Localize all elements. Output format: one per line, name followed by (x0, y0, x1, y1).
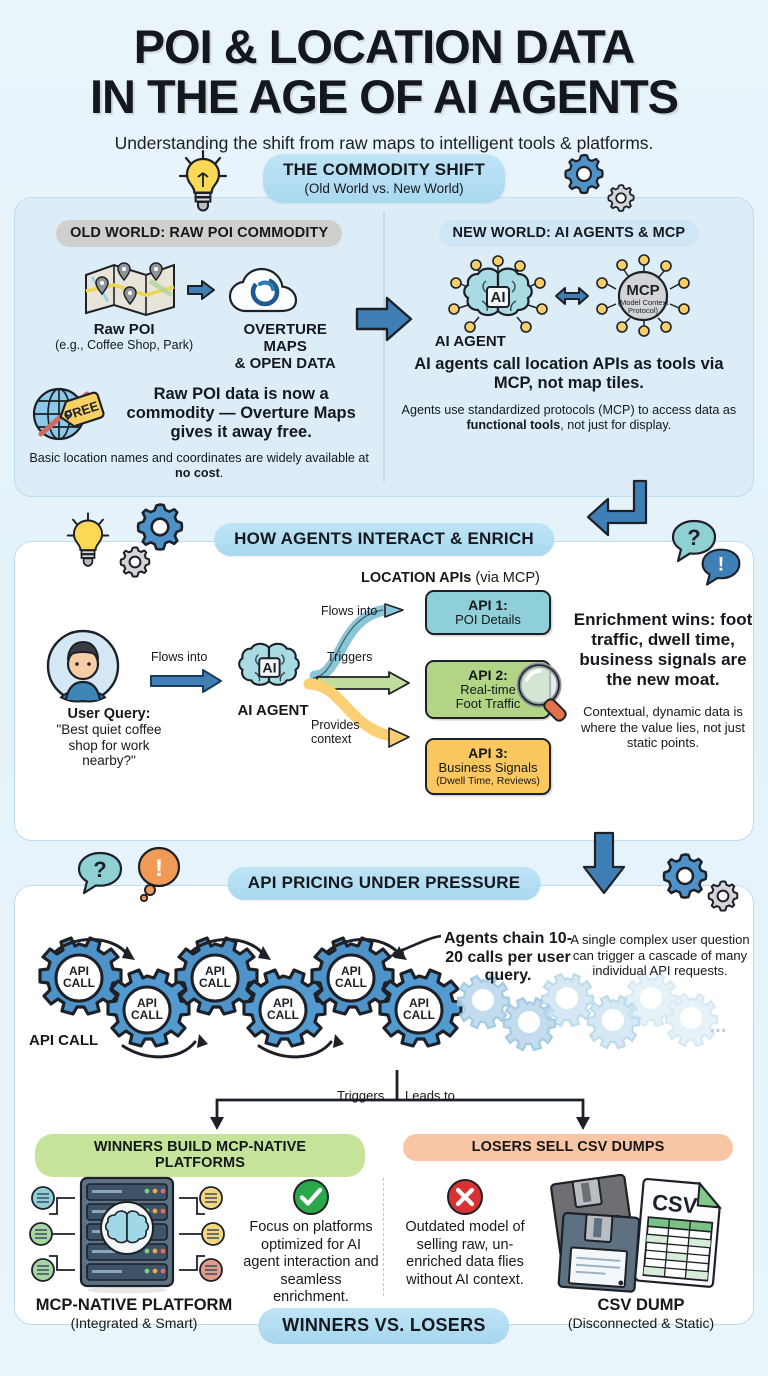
old-world-pill: OLD WORLD: RAW POI COMMODITY (56, 220, 342, 247)
gear-small-icon (118, 545, 152, 579)
section3-badge: API PRICING UNDER PRESSURE (228, 867, 541, 900)
section1-panel: OLD WORLD: RAW POI COMMODITY (14, 197, 754, 497)
connector-arrow-down-left (586, 481, 666, 551)
overture-label-2: & OPEN DATA (221, 355, 349, 372)
exclaim-bubble-icon: ! (136, 847, 182, 901)
section1-badge-title: THE COMMODITY SHIFT (283, 160, 485, 180)
bottom-badge: WINNERS VS. LOSERS (258, 1308, 509, 1344)
flow-label-api1: Flows into (321, 604, 377, 618)
question-bubble-icon: ? (76, 851, 124, 897)
svg-text:CALL: CALL (63, 976, 95, 990)
winners-text: Focus on platforms optimized for AI agen… (243, 1219, 379, 1307)
section3-panel: APICALL APICALL APICALL APICALL APICALL … (14, 885, 754, 1325)
magnifier-icon (513, 660, 577, 724)
branch-connector (75, 1070, 695, 1136)
overture-label-1: OVERTURE MAPS (221, 321, 349, 355)
section2-badge: HOW AGENTS INTERACT & ENRICH (214, 523, 554, 556)
platform-sub: (Integrated & Smart) (29, 1315, 239, 1331)
ai-agent-brain: AI (446, 257, 550, 335)
losers-pill: LOSERS SELL CSV DUMPS (403, 1134, 733, 1161)
lightbulb-icon (66, 511, 110, 567)
server-rack-icon (29, 1176, 225, 1294)
gear-icon (660, 851, 710, 901)
lightbulb-icon (178, 149, 228, 211)
arrow-to-chain-statement (387, 932, 445, 962)
mcp-label: MCP (626, 282, 659, 299)
page-subtitle: Understanding the shift from raw maps to… (0, 133, 768, 154)
user-avatar-icon (45, 628, 121, 704)
ai-agent-label: AI AGENT (435, 333, 506, 350)
user-query-label: User Query: (45, 706, 173, 722)
enrichment-statement: Enrichment wins: foot traffic, dwell tim… (571, 610, 755, 690)
section-agents-interact: ? ! HOW AGENTS INTERACT & ENRICH LOCATIO… (14, 541, 754, 841)
svg-text:CALL: CALL (335, 976, 367, 990)
map-icon (82, 261, 178, 319)
enrichment-note: Contextual, dynamic data is where the va… (571, 704, 755, 751)
svg-text:?: ? (93, 857, 106, 882)
cloud-icon (224, 261, 316, 319)
section2-badge-title: HOW AGENTS INTERACT & ENRICH (234, 529, 534, 549)
connector-arrow-down (582, 833, 626, 895)
branch-label-triggers: Triggers (337, 1088, 384, 1103)
agent-ai-label: AI (262, 659, 276, 675)
svg-text:!: ! (155, 855, 163, 882)
flow-label-user-to-agent: Flows into (151, 650, 207, 664)
section-api-pricing: ? ! API PRICING UNDER PRESSURE (14, 885, 754, 1325)
raw-poi-node (82, 261, 178, 319)
x-circle-icon (446, 1178, 484, 1216)
old-world-statement: Raw POI data is now a commodity — Overtu… (113, 385, 369, 442)
page-title-line2: IN THE AGE OF AI AGENTS (0, 72, 768, 122)
section1-badge-subtitle: (Old World vs. New World) (283, 181, 485, 196)
page-header: POI & LOCATION DATA IN THE AGE OF AI AGE… (0, 0, 768, 154)
flow-label-api2: Triggers (327, 650, 372, 664)
bidirectional-arrow-icon (554, 283, 590, 309)
infographic-page: POI & LOCATION DATA IN THE AGE OF AI AGE… (0, 0, 768, 1376)
api-box-1[interactable]: API 1: POI Details (425, 590, 551, 635)
winners-losers-divider (383, 1178, 384, 1296)
old-world-note: Basic location names and coordinates are… (27, 451, 371, 480)
overture-node (224, 261, 316, 319)
arrow-right-icon (186, 278, 216, 302)
enrichment-callout: Enrichment wins: foot traffic, dwell tim… (571, 610, 755, 751)
section3-badge-title: API PRICING UNDER PRESSURE (248, 873, 521, 893)
svg-text:!: ! (718, 555, 724, 576)
branch-label-leads-to: Leads to (405, 1088, 455, 1103)
svg-text:CALL: CALL (267, 1008, 299, 1022)
svg-text:CALL: CALL (403, 1008, 435, 1022)
api-call-label: API CALL (29, 1032, 98, 1049)
gear-small-icon (606, 183, 636, 213)
api-3-desc: Business Signals (433, 761, 543, 775)
mcp-sublabel-l2: Protocol) (628, 306, 659, 315)
platform-name: MCP-NATIVE PLATFORM (29, 1296, 239, 1315)
free-globe-icon: FREE (29, 382, 107, 444)
exclaim-bubble-icon: ! (700, 547, 742, 589)
raw-poi-sub: (e.g., Coffee Shop, Park) (49, 338, 199, 352)
chain-statement: Agents chain 10-20 calls per user query. (439, 930, 577, 986)
losers-text: Outdated model of selling raw, un-enrich… (395, 1219, 535, 1289)
api-3-name: API 3: (433, 745, 543, 761)
csv-dump-sub: (Disconnected & Static) (539, 1315, 743, 1331)
csv-dump-name: CSV DUMP (539, 1296, 743, 1315)
new-world-column: NEW WORLD: AI AGENTS & MCP (385, 198, 753, 496)
check-circle-icon (292, 1178, 330, 1216)
gear-small-icon (706, 879, 740, 913)
svg-text:?: ? (687, 525, 700, 550)
section1-badge: THE COMMODITY SHIFT (Old World vs. New W… (263, 154, 505, 203)
csv-file-label: CSV (651, 1190, 699, 1219)
mcp-node: MCP (Model Context Protocol) (594, 257, 692, 335)
csv-files-icon: CSV (539, 1176, 729, 1294)
brain-ai-label: AI (490, 289, 505, 306)
new-world-statement: AI agents call location APIs as tools vi… (397, 355, 741, 393)
csv-dump-node: CSV CSV (539, 1176, 743, 1331)
mcp-native-platform-node: MCP-NATIVE PLATFORM (Integrated & Smart) (29, 1176, 239, 1331)
api-3-extra: (Dwell Time, Reviews) (433, 775, 543, 787)
brain-icon: AI (223, 632, 315, 704)
arrow-user-to-agent (149, 668, 223, 694)
old-world-column: OLD WORLD: RAW POI COMMODITY (15, 198, 383, 496)
svg-text:CALL: CALL (199, 976, 231, 990)
api-box-3[interactable]: API 3: Business Signals (Dwell Time, Rev… (425, 738, 551, 795)
flow-label-api3: Provides context (311, 718, 360, 746)
api-1-desc: POI Details (433, 613, 543, 627)
raw-poi-label: Raw POI (49, 321, 199, 338)
user-query-text: "Best quiet coffee shop for work nearby?… (45, 722, 173, 769)
winners-pill: WINNERS BUILD MCP-NATIVE PLATFORMS (35, 1134, 365, 1177)
cascade-note: A single complex user question can trigg… (567, 932, 753, 979)
svg-text:CALL: CALL (131, 1008, 163, 1022)
big-arrow-right-icon (355, 296, 413, 342)
section2-panel: LOCATION APIs (via MCP) User Query: "Bes… (14, 541, 754, 841)
gear-icon (562, 152, 606, 196)
new-world-note: Agents use standardized protocols (MCP) … (397, 403, 741, 432)
page-title-line1: POI & LOCATION DATA (0, 22, 768, 72)
section-commodity-shift: THE COMMODITY SHIFT (Old World vs. New W… (14, 197, 754, 497)
new-world-pill: NEW WORLD: AI AGENTS & MCP (439, 220, 700, 247)
gears-ellipsis: ... (710, 1015, 727, 1037)
api-1-name: API 1: (433, 597, 543, 613)
